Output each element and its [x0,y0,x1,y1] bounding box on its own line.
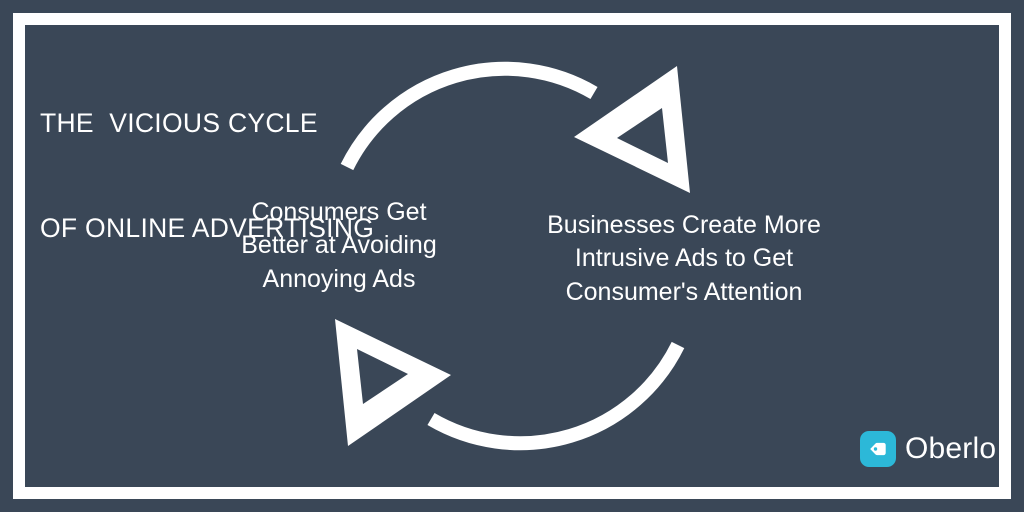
price-tag-icon [860,431,896,467]
cycle-arc-top [347,69,594,167]
consumers-line-3: Annoying Ads [199,263,479,296]
businesses-line-3: Consumer's Attention [539,276,829,309]
infographic-canvas: THE VICIOUS CYCLE OF ONLINE ADVERTISING … [0,0,1024,512]
businesses-line-1: Businesses Create More [539,209,829,242]
cycle-arc-bottom [431,345,678,443]
oberlo-wordmark: Oberlo [905,434,996,464]
cycle-node-consumers: Consumers Get Better at Avoiding Annoyin… [199,196,479,296]
businesses-line-2: Intrusive Ads to Get [539,242,829,275]
consumers-line-2: Better at Avoiding [199,229,479,262]
cycle-node-businesses: Businesses Create More Intrusive Ads to … [539,209,829,309]
consumers-line-1: Consumers Get [199,196,479,229]
oberlo-logo: Oberlo [860,431,996,467]
